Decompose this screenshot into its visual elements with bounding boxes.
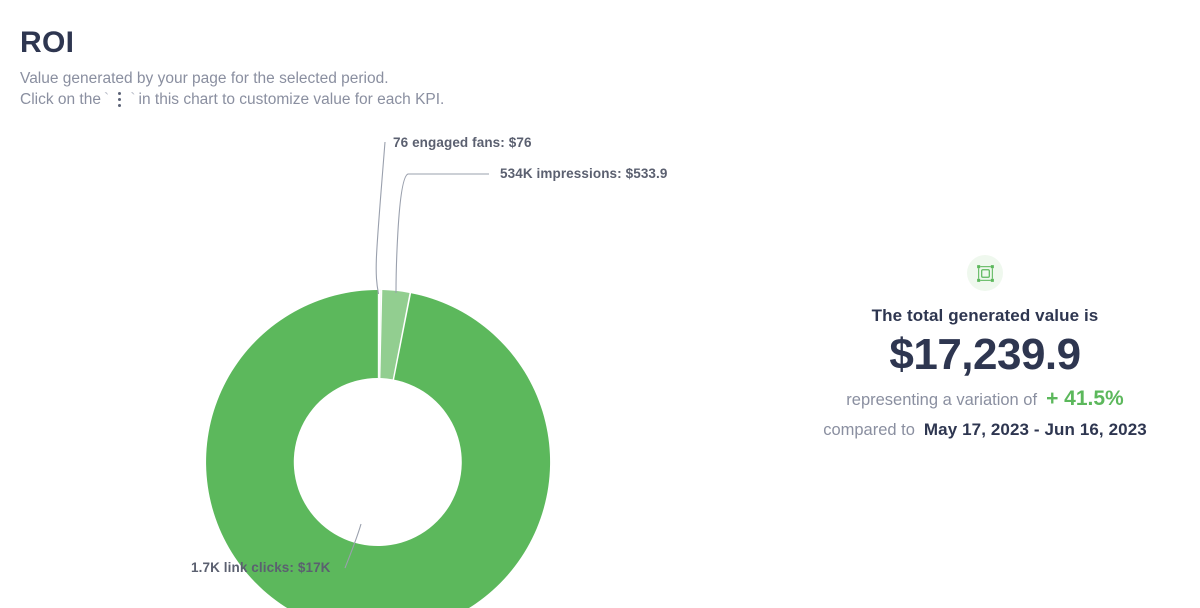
- header: ROI Value generated by your page for the…: [20, 26, 444, 110]
- leader-line-impressions: [396, 174, 489, 293]
- variation-prefix: representing a variation of: [846, 388, 1037, 412]
- tick-close: `: [127, 89, 138, 110]
- subtitle-line-1: Value generated by your page for the sel…: [20, 68, 444, 89]
- subtitle: Value generated by your page for the sel…: [20, 68, 444, 110]
- summary-panel: The total generated value is $17,239.9 r…: [770, 255, 1200, 442]
- page-title: ROI: [20, 26, 444, 60]
- roi-chart-panel: ROI Value generated by your page for the…: [0, 0, 1200, 608]
- donut-slice-engaged-fans[interactable]: [378, 290, 381, 378]
- label-impressions: 534K impressions: $533.9: [500, 166, 668, 181]
- tick-open: `: [101, 89, 112, 110]
- total-generated-value: $17,239.9: [770, 329, 1200, 381]
- variation-value: + 41.5%: [1046, 387, 1124, 411]
- subtitle-line-2-before: Click on the: [20, 89, 101, 110]
- summary-caption: The total generated value is: [770, 305, 1200, 327]
- label-link-clicks: 1.7K link clicks: $17K: [191, 560, 331, 575]
- donut-chart: 76 engaged fans: $76 534K impressions: $…: [0, 110, 720, 608]
- compared-row: compared to May 17, 2023 - Jun 16, 2023: [770, 418, 1200, 442]
- subtitle-line-2: Click on the ` ` in this chart to custom…: [20, 89, 444, 110]
- donut-chart-svg: [0, 110, 720, 608]
- label-engaged-fans: 76 engaged fans: $76: [393, 135, 532, 150]
- leader-line-engaged-fans: [376, 142, 385, 294]
- comparison-date-range: May 17, 2023 - Jun 16, 2023: [924, 418, 1147, 442]
- kebab-menu-icon[interactable]: [112, 91, 127, 109]
- subtitle-line-2-after: in this chart to customize value for eac…: [139, 89, 445, 110]
- compared-prefix: compared to: [823, 418, 915, 442]
- variation-row: representing a variation of + 41.5%: [770, 387, 1200, 412]
- badge-container: [967, 255, 1003, 291]
- crop-frame-icon: [976, 264, 995, 283]
